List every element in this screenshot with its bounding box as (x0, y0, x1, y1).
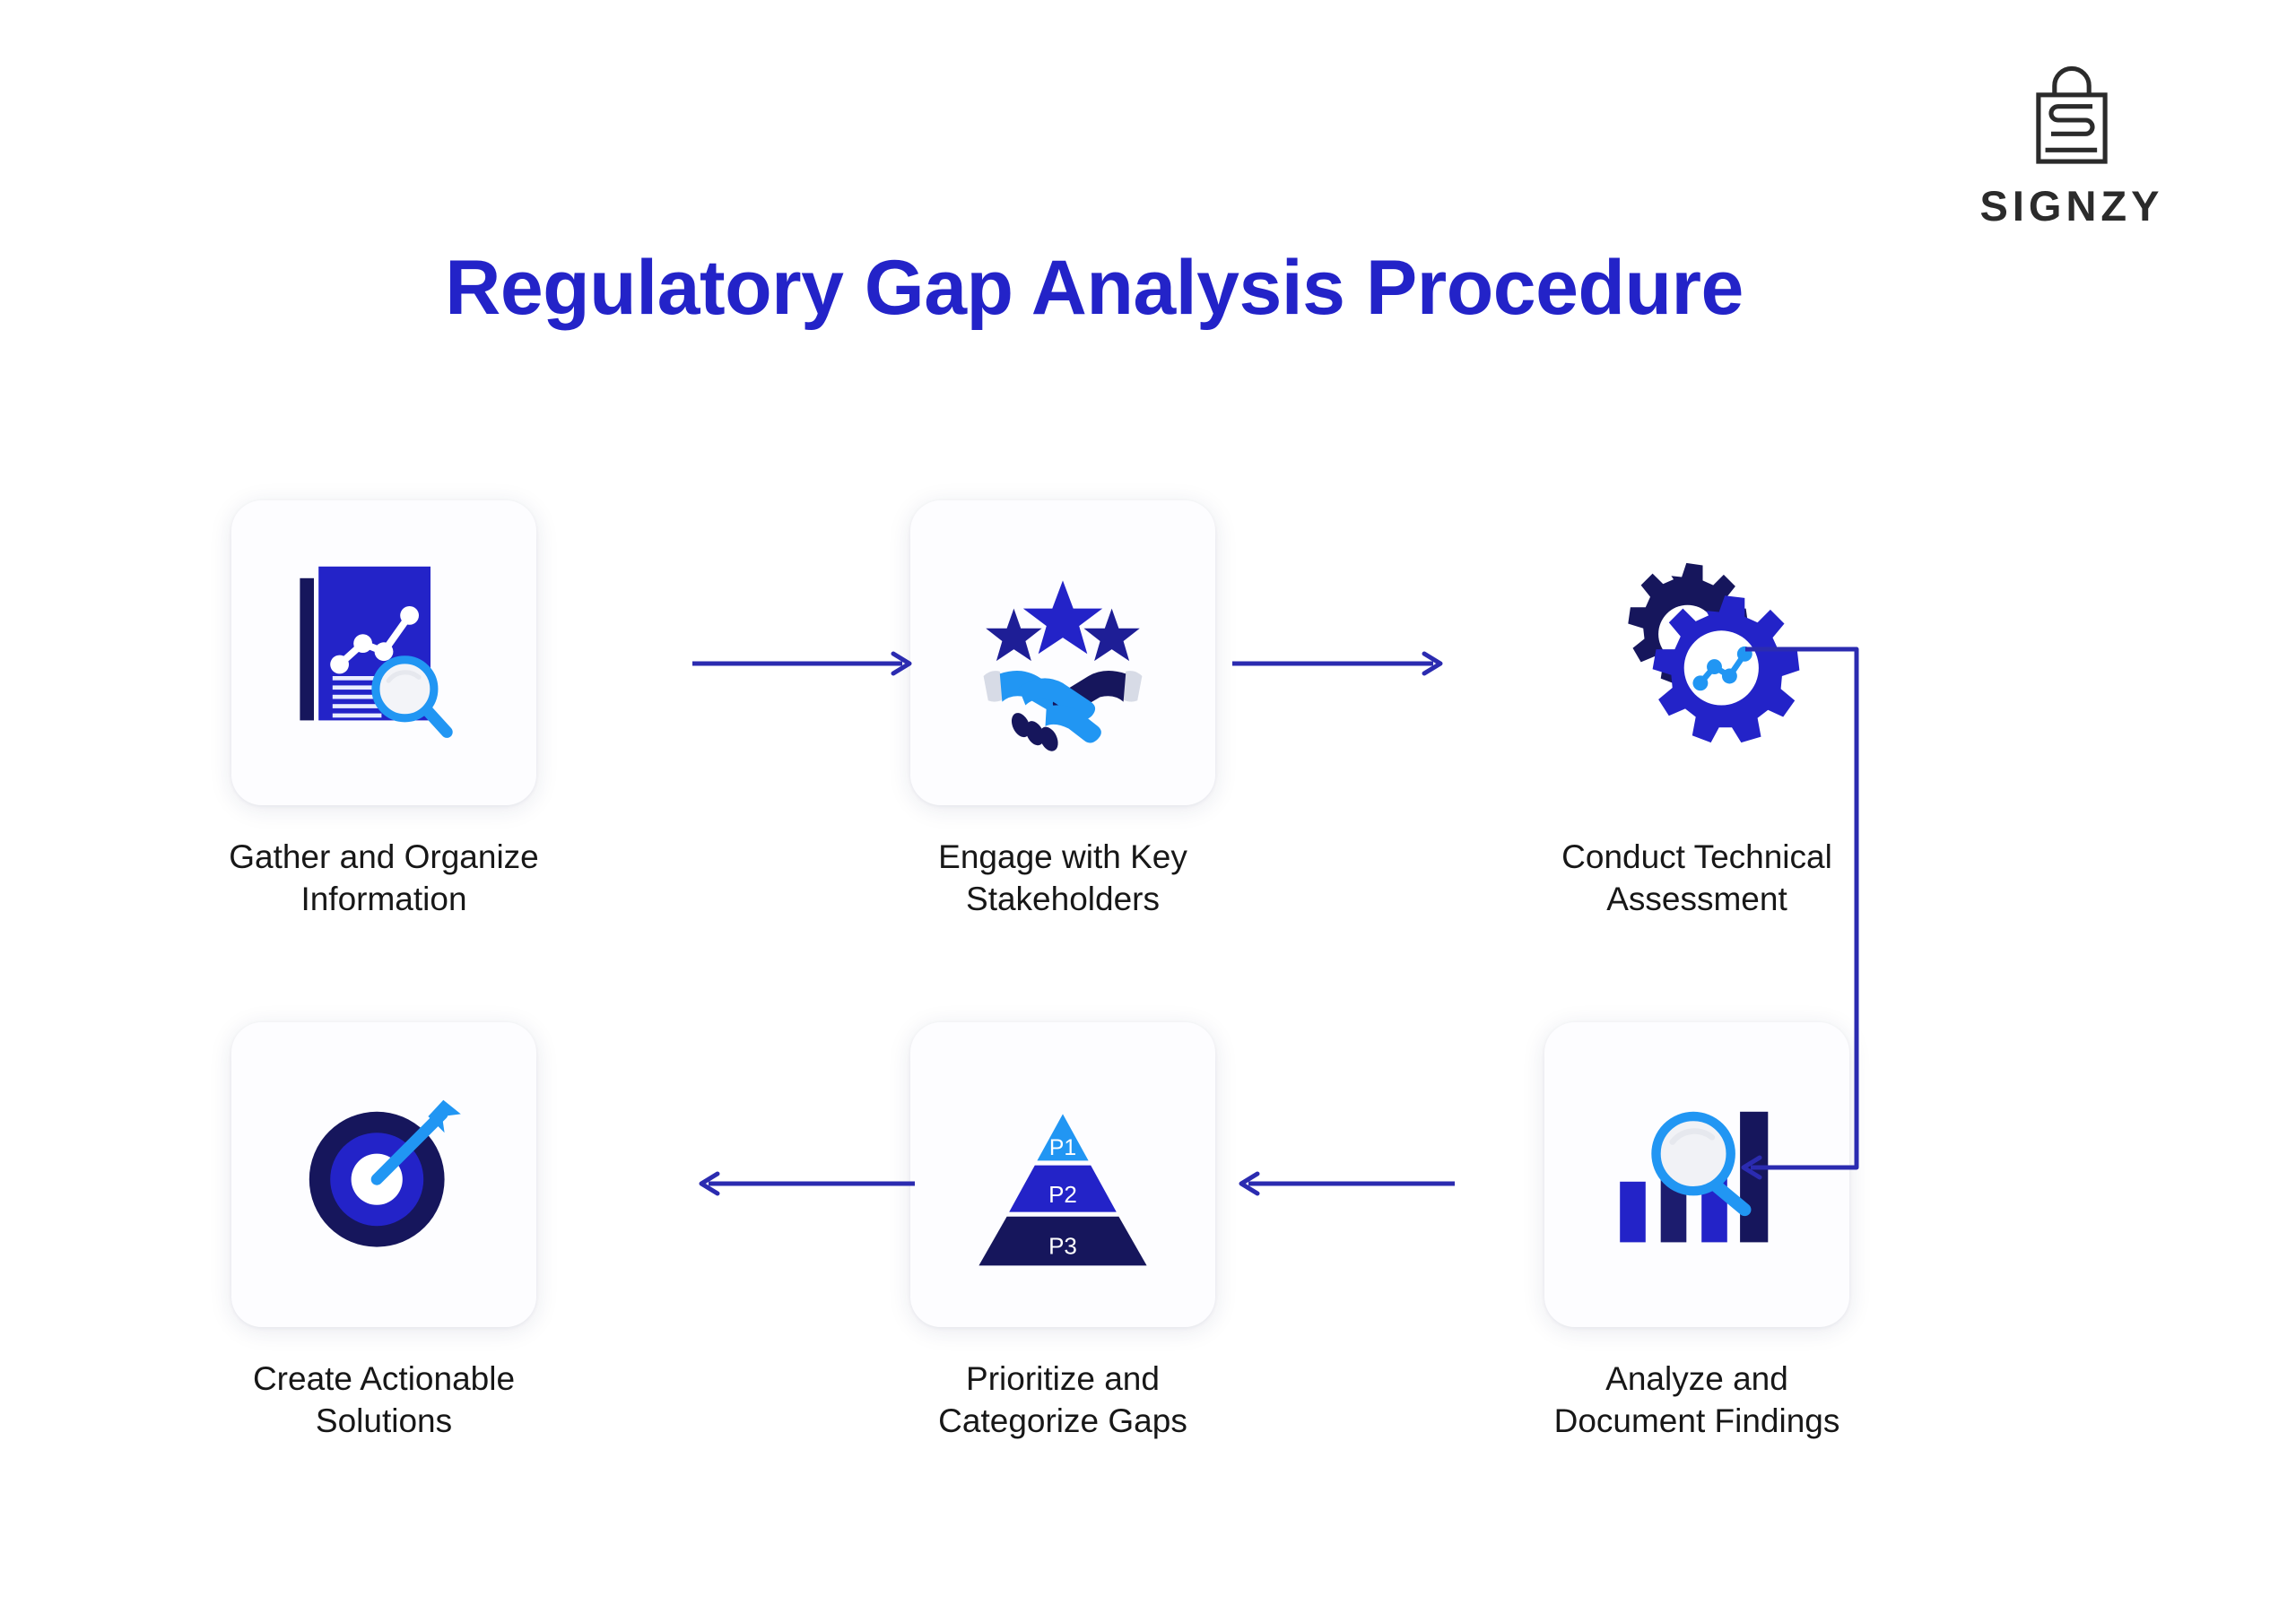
step-icon-card (231, 500, 536, 805)
step-icon-card: P1 P2 P3 (910, 1022, 1215, 1327)
connector-step2-to-step3 (1229, 637, 1453, 690)
pyramid-tier-p2-label: P2 (1048, 1181, 1077, 1208)
flow-step-prioritize-and-categorize-gaps[interactable]: P1 P2 P3 Prioritize and Categorize Gaps (901, 1022, 1224, 1443)
flow-step-create-actionable-solutions[interactable]: Create Actionable Solutions (222, 1022, 545, 1443)
connector-step5-to-step6 (689, 1157, 922, 1211)
target-with-arrow-icon (267, 1058, 500, 1291)
document-with-chart-and-magnifier-icon (267, 536, 500, 769)
step-label: Engage with Key Stakeholders (901, 836, 1224, 921)
connector-step4-to-step5 (1229, 1157, 1462, 1211)
diagram-page: SIGNZY Regulatory Gap Analysis Procedure (0, 0, 2296, 1623)
priority-pyramid-icon: P1 P2 P3 (946, 1058, 1179, 1291)
pyramid-tier-p1-label: P1 (1049, 1136, 1076, 1160)
step-icon-card (231, 1022, 536, 1327)
flowchart: Gather and Organize Information (0, 0, 2296, 1623)
pyramid-tier-p3-label: P3 (1048, 1232, 1077, 1259)
connector-step1-to-step2 (689, 637, 922, 690)
step-icon-card (910, 500, 1215, 805)
step-label: Gather and Organize Information (222, 836, 545, 921)
handshake-with-stars-icon (946, 536, 1179, 769)
flow-step-gather-and-organize-information[interactable]: Gather and Organize Information (222, 500, 545, 921)
connector-step3-to-step4 (1731, 644, 1910, 1209)
step-label: Create Actionable Solutions (222, 1358, 545, 1443)
flow-step-engage-with-key-stakeholders[interactable]: Engage with Key Stakeholders (901, 500, 1224, 921)
step-label: Prioritize and Categorize Gaps (901, 1358, 1224, 1443)
step-label: Analyze and Document Findings (1535, 1358, 1858, 1443)
